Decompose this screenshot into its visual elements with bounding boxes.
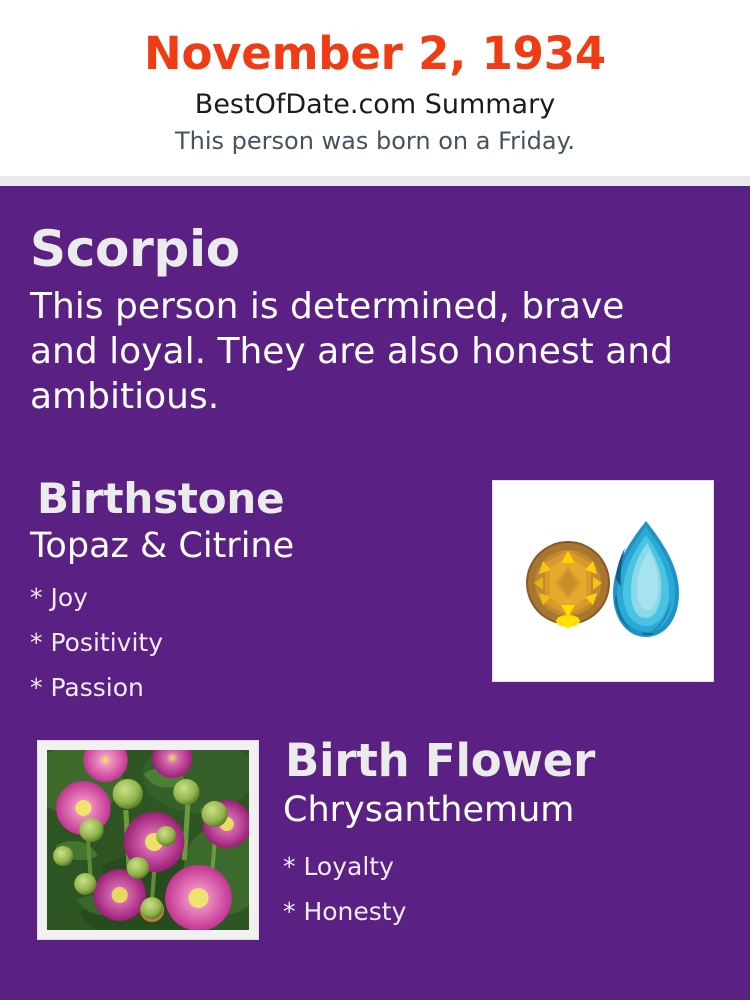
birthstone-name: Topaz & Citrine <box>30 524 470 567</box>
zodiac-description: This person is determined, brave and loy… <box>30 278 690 419</box>
birthstone-image-frame <box>492 480 714 682</box>
chrysanthemum-flowers-icon <box>47 750 249 930</box>
birth-flower-name: Chrysanthemum <box>283 788 723 832</box>
birthstone-image <box>503 491 703 671</box>
page-title-date: November 2, 1934 <box>0 0 750 82</box>
birth-flower-heading: Birth Flower <box>283 734 723 788</box>
birth-flower-section: Birth Flower Chrysanthemum * Loyalty * H… <box>283 734 723 934</box>
gemstones-icon <box>503 491 703 671</box>
birth-flower-image <box>47 750 249 930</box>
list-item: * Passion <box>30 665 470 710</box>
list-item: * Joy <box>30 575 470 620</box>
list-item: * Loyalty <box>283 844 723 889</box>
birth-flower-trait-list: * Loyalty * Honesty <box>283 832 723 934</box>
birth-flower-image-frame <box>37 740 259 940</box>
zodiac-sign-name: Scorpio <box>30 220 710 278</box>
birthstone-section: Birthstone Topaz & Citrine * Joy * Posit… <box>30 474 470 710</box>
list-item: * Positivity <box>30 620 470 665</box>
birthstone-trait-list: * Joy * Positivity * Passion <box>30 567 470 710</box>
birthstone-heading: Birthstone <box>30 474 470 524</box>
site-summary-label: BestOfDate.com Summary <box>0 82 750 122</box>
summary-card: November 2, 1934 BestOfDate.com Summary … <box>0 0 750 1000</box>
weekday-statement: This person was born on a Friday. <box>0 122 750 156</box>
header-divider <box>0 176 750 186</box>
content-panel: Scorpio This person is determined, brave… <box>0 186 750 1000</box>
zodiac-section: Scorpio This person is determined, brave… <box>30 220 710 419</box>
card-header: November 2, 1934 BestOfDate.com Summary … <box>0 0 750 176</box>
list-item: * Honesty <box>283 889 723 934</box>
